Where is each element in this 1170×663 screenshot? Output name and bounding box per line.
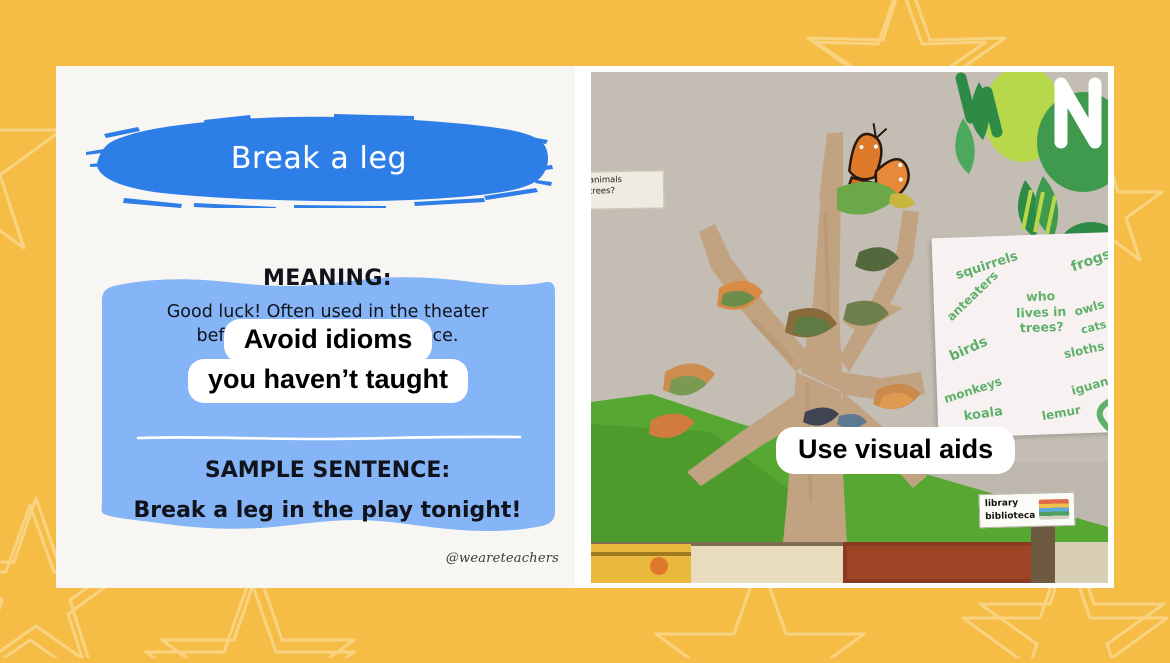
anchor-chart-center-line-3: trees? xyxy=(1006,319,1077,337)
anchor-chart-center-question: who lives in trees? xyxy=(1005,287,1077,336)
title-brush-banner: Break a leg xyxy=(84,108,554,208)
classroom-photo: animals trees? who lives in trees? squir… xyxy=(591,72,1108,583)
library-label-line-2: biblioteca xyxy=(985,510,1035,524)
anchor-chart-center-line-2: lives in xyxy=(1006,303,1077,321)
idiom-title: Break a leg xyxy=(84,108,554,208)
anchor-chart-poster: who lives in trees? squirrelsanteatersbi… xyxy=(932,232,1108,439)
sample-sentence-heading: SAMPLE SENTENCE: xyxy=(100,458,555,483)
library-label: library biblioteca xyxy=(979,492,1076,529)
books-icon xyxy=(1039,499,1070,520)
question-note: animals trees? xyxy=(591,170,664,209)
callout-avoid-idioms: Avoid idioms you haven’t taught xyxy=(180,319,476,403)
sample-sentence-text: Break a leg in the play tonight! xyxy=(100,498,555,523)
meaning-heading: MEANING: xyxy=(263,266,392,291)
callout-avoid-idioms-line-2: you haven’t taught xyxy=(188,359,468,402)
divider-line xyxy=(136,428,522,434)
callout-avoid-idioms-line-1: Avoid idioms xyxy=(224,319,433,362)
watermark-handle: @weareteachers xyxy=(446,551,559,566)
callout-use-visual-aids: Use visual aids xyxy=(776,427,1015,474)
question-note-line-2: trees? xyxy=(591,186,663,199)
callout-use-visual-aids-text: Use visual aids xyxy=(776,427,1015,474)
idiom-poster-panel: Break a leg MEANING: Good luck! Often us… xyxy=(56,66,575,588)
slide-card: Break a leg MEANING: Good luck! Often us… xyxy=(56,66,1114,588)
